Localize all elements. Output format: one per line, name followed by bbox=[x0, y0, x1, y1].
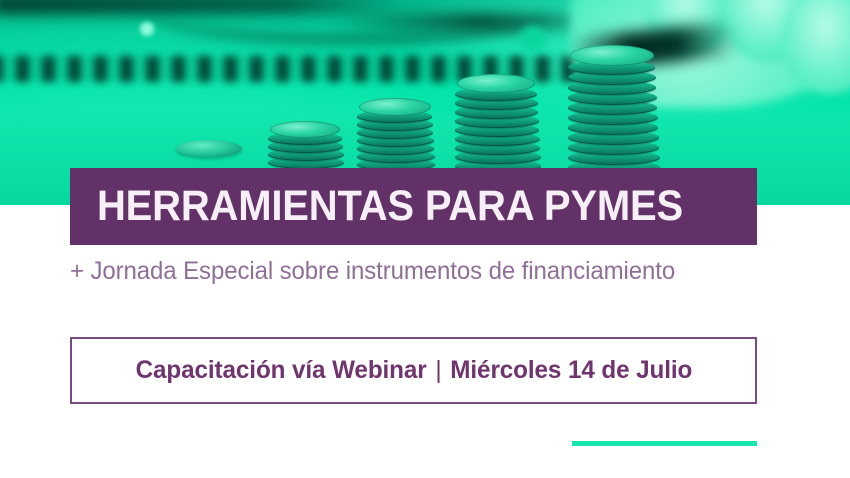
accent-rule bbox=[572, 441, 757, 446]
coin-stack bbox=[268, 113, 344, 169]
webinar-date: Miércoles 14 de Julio bbox=[450, 356, 692, 384]
subtitle: + Jornada Especial sobre instrumentos de… bbox=[70, 257, 675, 286]
title-bar: HERRAMIENTAS PARA PYMES bbox=[70, 168, 757, 245]
coin-single bbox=[176, 140, 242, 157]
bokeh-circle-icon bbox=[520, 26, 546, 52]
coin-stack bbox=[568, 25, 660, 175]
webinar-modality: Capacitación vía Webinar bbox=[135, 356, 426, 384]
webinar-info-box: Capacitación vía Webinar|Miércoles 14 de… bbox=[70, 337, 757, 404]
webinar-info-text: Capacitación vía Webinar|Miércoles 14 de… bbox=[135, 356, 692, 385]
promo-banner: HERRAMIENTAS PARA PYMES + Jornada Especi… bbox=[0, 0, 850, 478]
highlight-dot-icon bbox=[140, 22, 154, 36]
coin-stack bbox=[357, 91, 435, 171]
webinar-separator: | bbox=[426, 356, 450, 384]
page-title: HERRAMIENTAS PARA PYMES bbox=[70, 182, 683, 231]
coin-stack bbox=[455, 61, 541, 173]
